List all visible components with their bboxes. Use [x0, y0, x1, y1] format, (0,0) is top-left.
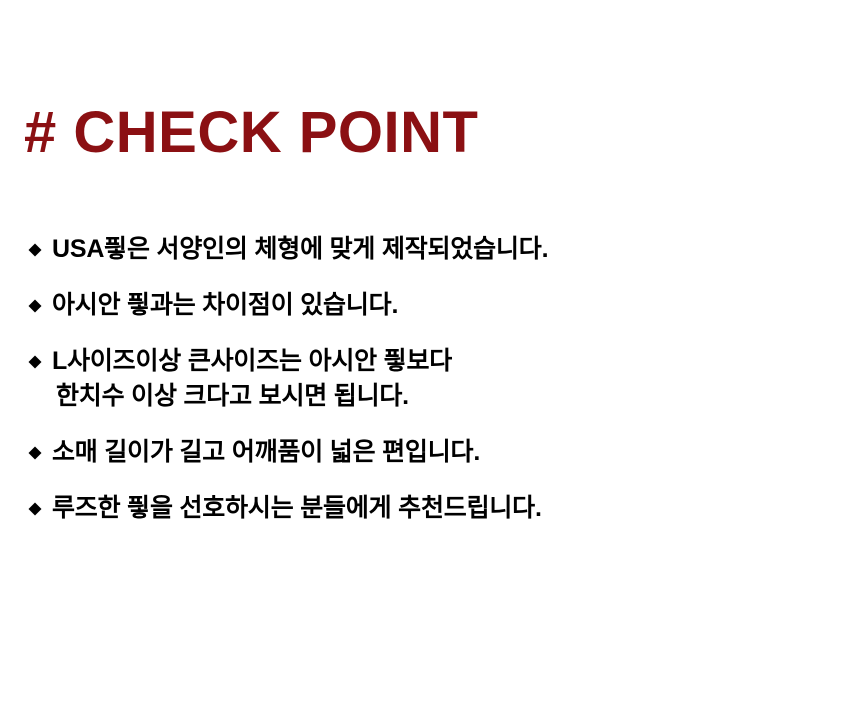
list-item: USA픻은 서양인의 체형에 맞게 제작되었습니다.: [28, 232, 828, 267]
diamond-bullet-icon: [28, 344, 44, 379]
list-item-line: USA픻은 서양인의 체형에 맞게 제작되었습니다.: [52, 235, 548, 263]
diamond-bullet-icon: [28, 435, 44, 470]
list-item: 소매 길이가 길고 어깨품이 넓은 편입니다.: [28, 435, 828, 470]
list-item-text: L사이즈이상 큰사이즈는 아시안 픻보다 한치수 이상 크다고 보시면 됩니다.: [52, 344, 828, 414]
check-point-list: USA픻은 서양인의 체형에 맞게 제작되었습니다. 아시안 픻과는 차이점이 …: [28, 232, 828, 526]
list-item: 루즈한 픻을 선호하시는 분들에게 추천드립니다.: [28, 491, 828, 526]
list-item-text: 루즈한 픻을 선호하시는 분들에게 추천드립니다.: [52, 491, 828, 526]
check-point-panel: # CHECK POINT USA픻은 서양인의 체형에 맞게 제작되었습니다.…: [0, 0, 860, 702]
diamond-bullet-icon: [28, 232, 44, 267]
list-item-line: 소매 길이가 길고 어깨품이 넓은 편입니다.: [52, 438, 480, 466]
diamond-bullet-icon: [28, 491, 44, 526]
list-item-text: USA픻은 서양인의 체형에 맞게 제작되었습니다.: [52, 232, 828, 267]
list-item-line-continued: 한치수 이상 크다고 보시면 됩니다.: [52, 379, 828, 414]
list-item-line: 아시안 픻과는 차이점이 있습니다.: [52, 291, 398, 319]
list-item-line: 루즈한 픻을 선호하시는 분들에게 추천드립니다.: [52, 494, 542, 522]
list-item: 아시안 픻과는 차이점이 있습니다.: [28, 288, 828, 323]
list-item-line: L사이즈이상 큰사이즈는 아시안 픻보다: [52, 347, 452, 375]
page-title: # CHECK POINT: [24, 103, 478, 164]
list-item-text: 아시안 픻과는 차이점이 있습니다.: [52, 288, 828, 323]
list-item-text: 소매 길이가 길고 어깨품이 넓은 편입니다.: [52, 435, 828, 470]
diamond-bullet-icon: [28, 288, 44, 323]
list-item: L사이즈이상 큰사이즈는 아시안 픻보다 한치수 이상 크다고 보시면 됩니다.: [28, 344, 828, 414]
